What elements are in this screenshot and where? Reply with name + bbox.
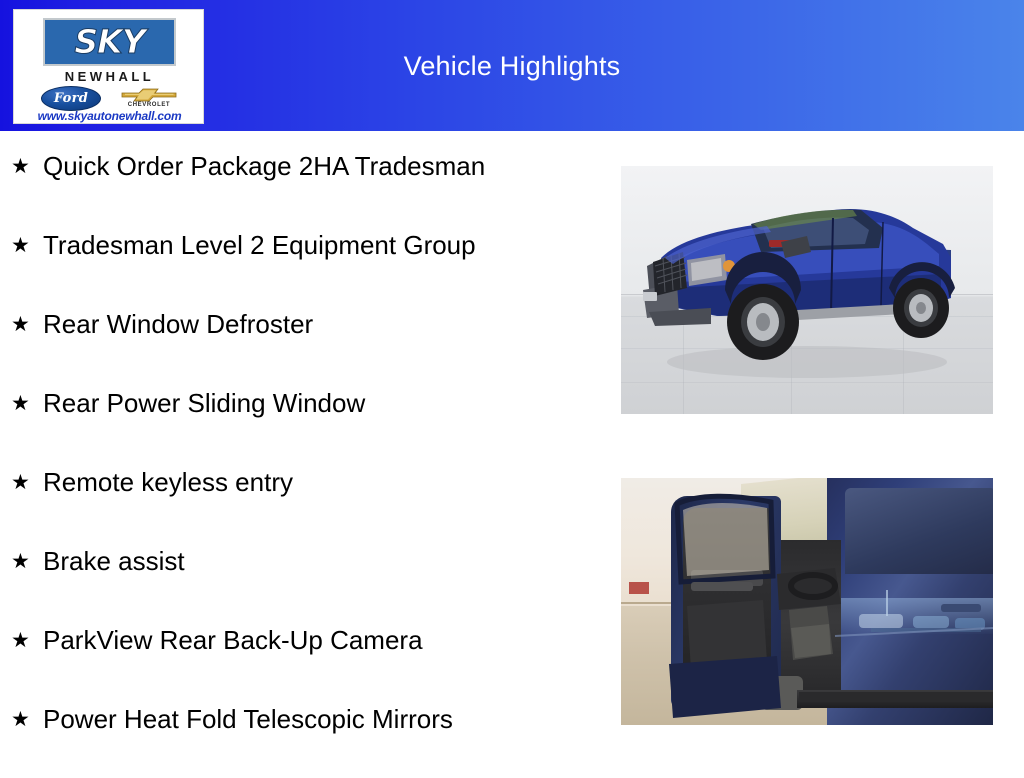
star-bullet-icon: ★ [11, 146, 43, 186]
vehicle-photo-interior[interactable]: SKY [621, 478, 993, 725]
feature-label: Brake assist [43, 541, 185, 581]
star-bullet-icon: ★ [11, 462, 43, 502]
feature-item: ★ Brake assist [0, 541, 600, 620]
vehicle-photo-exterior[interactable] [621, 166, 993, 414]
star-bullet-icon: ★ [11, 383, 43, 423]
dealer-logo[interactable]: SKY NEWHALL Ford CHEVROLET www.skyautone… [13, 9, 204, 124]
page-header: Vehicle Highlights SKY NEWHALL Ford CHEV… [0, 0, 1024, 131]
feature-item: ★ Rear Window Defroster [0, 304, 600, 383]
feature-item: ★ Tradesman Level 2 Equipment Group [0, 225, 600, 304]
sky-wordmark: SKY [43, 21, 176, 63]
feature-label: Power Heat Fold Telescopic Mirrors [43, 699, 453, 739]
feature-label: Tradesman Level 2 Equipment Group [43, 225, 476, 265]
feature-item: ★ Rear Power Sliding Window [0, 383, 600, 462]
star-bullet-icon: ★ [11, 304, 43, 344]
feature-item: ★ Remote keyless entry [0, 462, 600, 541]
feature-label: ParkView Rear Back-Up Camera [43, 620, 423, 660]
sky-brand-mark: SKY [43, 18, 176, 66]
star-bullet-icon: ★ [11, 699, 43, 739]
vehicle-features-list: ★ Quick Order Package 2HA Tradesman ★ Tr… [0, 146, 600, 778]
ford-logo-label: Ford [42, 89, 100, 108]
interior-detail-illustration [621, 478, 993, 725]
ford-logo-icon: Ford [41, 86, 101, 111]
feature-label: Rear Power Sliding Window [43, 383, 365, 423]
feature-label: Quick Order Package 2HA Tradesman [43, 146, 485, 186]
dealer-website-url[interactable]: www.skyautonewhall.com [14, 109, 204, 124]
feature-item: ★ Power Heat Fold Telescopic Mirrors [0, 699, 600, 778]
feature-label: Remote keyless entry [43, 462, 293, 502]
feature-item: ★ Quick Order Package 2HA Tradesman [0, 146, 600, 225]
truck-exterior-illustration [621, 166, 993, 414]
star-bullet-icon: ★ [11, 620, 43, 660]
chevrolet-bowtie-icon [121, 87, 177, 102]
dealer-location-label: NEWHALL [14, 69, 204, 84]
star-bullet-icon: ★ [11, 225, 43, 265]
feature-item: ★ ParkView Rear Back-Up Camera [0, 620, 600, 699]
star-bullet-icon: ★ [11, 541, 43, 581]
feature-label: Rear Window Defroster [43, 304, 313, 344]
